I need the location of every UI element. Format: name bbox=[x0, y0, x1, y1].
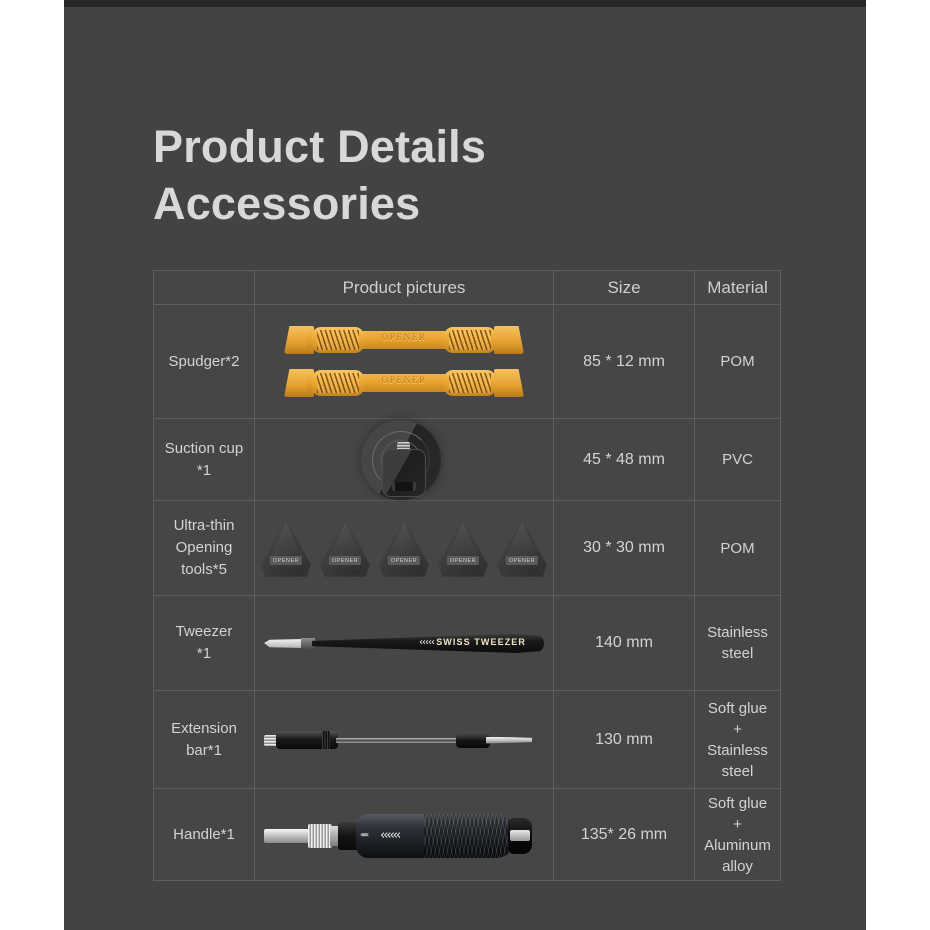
row-name-line: Spudger*2 bbox=[154, 351, 254, 373]
extension-bar-grip bbox=[276, 731, 338, 749]
row-name-line: Extension bbox=[154, 718, 254, 740]
row-name-line: Handle*1 bbox=[154, 824, 254, 846]
row-name-opening-tools: Ultra-thin Opening tools*5 bbox=[154, 501, 255, 596]
accessories-spec-table: Product pictures Size Material Spudger*2 bbox=[153, 270, 781, 881]
row-material-handle: Soft glue + Aluminum alloy bbox=[695, 789, 781, 881]
row-name-line: Suction cup bbox=[154, 438, 254, 460]
row-material-line: POM bbox=[695, 351, 780, 372]
spudger-icon: OPENER bbox=[284, 368, 524, 398]
opening-pick-label: OPENER bbox=[329, 556, 361, 565]
column-header-name bbox=[154, 271, 255, 305]
tweezer-tip bbox=[264, 639, 304, 648]
row-name-line: tools*5 bbox=[154, 559, 254, 581]
suction-cup-grip bbox=[382, 449, 426, 497]
product-details-page: Product Details Accessories Product pict… bbox=[0, 0, 930, 930]
opening-pick-icon: OPENER bbox=[259, 518, 313, 578]
row-material-line: PVC bbox=[695, 449, 780, 470]
tweezer-chevrons: ‹‹‹‹‹ bbox=[419, 637, 434, 648]
handle-grip-texture-cross bbox=[424, 814, 516, 858]
spudger-label: OPENER bbox=[284, 376, 524, 386]
row-material-line: alloy bbox=[695, 856, 780, 877]
row-name-line: Ultra-thin bbox=[154, 515, 254, 537]
table-body: Spudger*2 OPENER bbox=[154, 305, 781, 881]
row-material-line: Soft glue bbox=[695, 698, 780, 719]
panel-top-strip bbox=[64, 0, 866, 7]
row-name-line: *1 bbox=[154, 460, 254, 482]
row-material-line: + bbox=[695, 719, 780, 740]
row-material-line: + bbox=[695, 814, 780, 835]
opening-pick-icon: OPENER bbox=[495, 518, 549, 578]
opening-pick-label: OPENER bbox=[506, 556, 538, 565]
row-size-suction-cup: 45 * 48 mm bbox=[554, 419, 695, 501]
row-material-line: Soft glue bbox=[695, 793, 780, 814]
opening-picks-icon: OPENER OPENER OPENER OPENER bbox=[255, 501, 553, 595]
handle-end-cap bbox=[508, 818, 532, 854]
row-material-line: Aluminum bbox=[695, 835, 780, 856]
table-row: Handle*1 ‹‹‹‹‹‹ ‹ bbox=[154, 789, 781, 881]
column-header-product-pictures: Product pictures bbox=[255, 271, 554, 305]
row-size-tweezer: 140 mm bbox=[554, 596, 695, 691]
column-header-material: Material bbox=[695, 271, 781, 305]
row-material-line: steel bbox=[695, 761, 780, 782]
row-name-line: *1 bbox=[154, 643, 254, 665]
column-header-size: Size bbox=[554, 271, 695, 305]
row-name-tweezer: Tweezer *1 bbox=[154, 596, 255, 691]
extension-bar-collar bbox=[456, 733, 490, 748]
row-name-line: bar*1 bbox=[154, 740, 254, 762]
extension-bar-shaft bbox=[336, 738, 460, 743]
table-row: Tweezer *1 ‹‹‹‹‹ SWISS TWEEZER 140 bbox=[154, 596, 781, 691]
handle-chevron-small: ‹‹‹‹‹‹ bbox=[360, 830, 367, 839]
row-material-extension-bar: Soft glue + Stainless steel bbox=[695, 691, 781, 789]
row-picture-spudger: OPENER OPENER bbox=[255, 305, 554, 419]
table-header-row: Product pictures Size Material bbox=[154, 271, 781, 305]
row-size-extension-bar: 130 mm bbox=[554, 691, 695, 789]
handle-chevrons: ‹‹‹‹‹‹ bbox=[380, 828, 399, 843]
row-name-spudger: Spudger*2 bbox=[154, 305, 255, 419]
table-header: Product pictures Size Material bbox=[154, 271, 781, 305]
opening-pick-icon: OPENER bbox=[377, 518, 431, 578]
row-name-extension-bar: Extension bar*1 bbox=[154, 691, 255, 789]
spudger-label: OPENER bbox=[284, 333, 524, 343]
row-name-line: Tweezer bbox=[154, 621, 254, 643]
row-material-tweezer: Stainless steel bbox=[695, 596, 781, 691]
row-name-suction-cup: Suction cup *1 bbox=[154, 419, 255, 501]
handle-icon: ‹‹‹‹‹‹ ‹‹‹‹‹‹ bbox=[255, 789, 553, 880]
row-material-suction-cup: PVC bbox=[695, 419, 781, 501]
opening-pick-label: OPENER bbox=[447, 556, 479, 565]
row-material-line: POM bbox=[695, 538, 780, 559]
handle-knurled-collar bbox=[308, 824, 332, 848]
tweezer-icon: ‹‹‹‹‹ SWISS TWEEZER bbox=[255, 596, 553, 690]
row-size-opening-tools: 30 * 30 mm bbox=[554, 501, 695, 596]
table-row: Ultra-thin Opening tools*5 OPENER OPENER bbox=[154, 501, 781, 596]
row-name-handle: Handle*1 bbox=[154, 789, 255, 881]
page-title: Product Details Accessories bbox=[153, 118, 773, 232]
row-name-line: Opening bbox=[154, 537, 254, 559]
row-material-line: Stainless bbox=[695, 740, 780, 761]
row-material-opening-tools: POM bbox=[695, 501, 781, 596]
row-picture-handle: ‹‹‹‹‹‹ ‹‹‹‹‹‹ bbox=[255, 789, 554, 881]
suction-cup-icon bbox=[255, 419, 553, 500]
extension-bar-tip bbox=[486, 737, 532, 744]
row-picture-suction-cup bbox=[255, 419, 554, 501]
opening-pick-icon: OPENER bbox=[318, 518, 372, 578]
page-title-line-2: Accessories bbox=[153, 175, 773, 232]
row-picture-opening-tools: OPENER OPENER OPENER OPENER bbox=[255, 501, 554, 596]
spudger-icon: OPENER bbox=[284, 325, 524, 355]
row-size-handle: 135* 26 mm bbox=[554, 789, 695, 881]
row-material-line: Stainless bbox=[695, 622, 780, 643]
table-row: Extension bar*1 130 mm bbox=[154, 691, 781, 789]
page-title-line-1: Product Details bbox=[153, 118, 773, 175]
opening-pick-icon: OPENER bbox=[436, 518, 490, 578]
row-picture-extension-bar bbox=[255, 691, 554, 789]
row-material-line: steel bbox=[695, 643, 780, 664]
opening-pick-label: OPENER bbox=[388, 556, 420, 565]
opening-pick-label: OPENER bbox=[270, 556, 302, 565]
row-picture-tweezer: ‹‹‹‹‹ SWISS TWEEZER bbox=[255, 596, 554, 691]
table-row: Suction cup *1 45 * 48 mm bbox=[154, 419, 781, 501]
table-row: Spudger*2 OPENER bbox=[154, 305, 781, 419]
tweezer-brand-label: SWISS TWEEZER bbox=[436, 637, 526, 647]
handle-grip: ‹‹‹‹‹‹ ‹‹‹‹‹‹ bbox=[356, 814, 516, 858]
spudger-pair-icon: OPENER OPENER bbox=[255, 305, 553, 418]
handle-shaft bbox=[264, 829, 312, 843]
extension-bar-icon bbox=[255, 691, 553, 788]
row-material-spudger: POM bbox=[695, 305, 781, 419]
row-size-spudger: 85 * 12 mm bbox=[554, 305, 695, 419]
